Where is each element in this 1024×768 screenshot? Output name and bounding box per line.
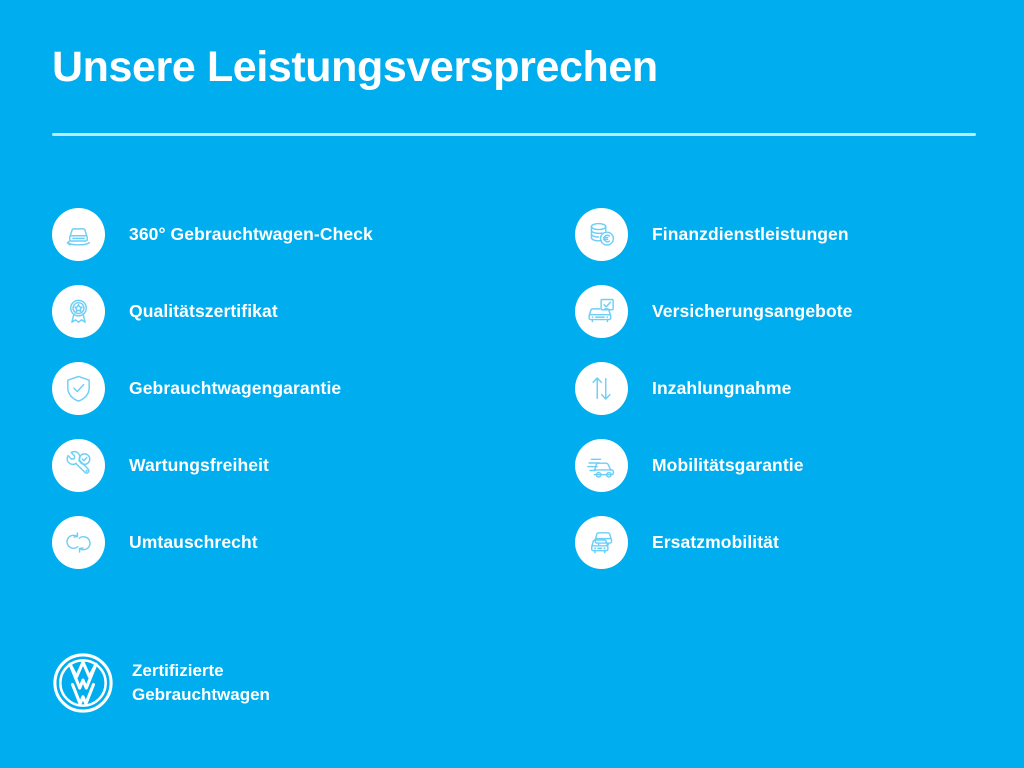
feature-item-insurance-offers[interactable]: Versicherungsangebote	[575, 273, 1024, 350]
feature-item-360-check[interactable]: 360° Gebrauchtwagen-Check	[52, 196, 512, 273]
brand-text: Zertifizierte Gebrauchtwagen	[132, 659, 270, 707]
feature-item-warranty[interactable]: Gebrauchtwagengarantie	[52, 350, 512, 427]
feature-item-exchange-right[interactable]: Umtauschrecht	[52, 504, 512, 581]
feature-label: Gebrauchtwagengarantie	[129, 378, 341, 399]
car-motion-icon	[575, 439, 628, 492]
feature-item-quality-certificate[interactable]: Qualitätszertifikat	[52, 273, 512, 350]
title-divider	[52, 133, 976, 136]
exchange-arrows-icon	[52, 516, 105, 569]
feature-label: Qualitätszertifikat	[129, 301, 278, 322]
feature-label: Versicherungsangebote	[652, 301, 853, 322]
up-down-arrows-icon	[575, 362, 628, 415]
volkswagen-logo-icon	[52, 652, 114, 714]
features-right-column: Finanzdienstleistungen	[512, 196, 1024, 581]
feature-label: Finanzdienstleistungen	[652, 224, 849, 245]
header: Unsere Leistungsversprechen	[52, 44, 976, 91]
car-document-check-icon	[575, 285, 628, 338]
brand-footer: Zertifizierte Gebrauchtwagen	[52, 652, 270, 714]
shield-check-icon	[52, 362, 105, 415]
feature-label: Wartungsfreiheit	[129, 455, 269, 476]
feature-label: Inzahlungnahme	[652, 378, 791, 399]
feature-item-financial-services[interactable]: Finanzdienstleistungen	[575, 196, 1024, 273]
feature-item-trade-in[interactable]: Inzahlungnahme	[575, 350, 1024, 427]
features-left-column: 360° Gebrauchtwagen-Check Qualitätszerti…	[0, 196, 512, 581]
feature-label: Umtauschrecht	[129, 532, 258, 553]
coins-euro-icon	[575, 208, 628, 261]
page-title: Unsere Leistungsversprechen	[52, 44, 976, 91]
award-rosette-icon	[52, 285, 105, 338]
feature-item-mobility-guarantee[interactable]: Mobilitätsgarantie	[575, 427, 1024, 504]
feature-item-maintenance-free[interactable]: Wartungsfreiheit	[52, 427, 512, 504]
feature-item-replacement-mobility[interactable]: Ersatzmobilität	[575, 504, 1024, 581]
wrench-check-icon	[52, 439, 105, 492]
two-cars-icon	[575, 516, 628, 569]
brand-line-1: Zertifizierte	[132, 661, 224, 680]
promise-slide: Unsere Leistungsversprechen 3	[0, 0, 1024, 768]
car-360-check-icon	[52, 208, 105, 261]
features-grid: 360° Gebrauchtwagen-Check Qualitätszerti…	[0, 196, 1024, 581]
feature-label: Ersatzmobilität	[652, 532, 779, 553]
brand-line-2: Gebrauchtwagen	[132, 685, 270, 704]
feature-label: 360° Gebrauchtwagen-Check	[129, 224, 373, 245]
feature-label: Mobilitätsgarantie	[652, 455, 804, 476]
